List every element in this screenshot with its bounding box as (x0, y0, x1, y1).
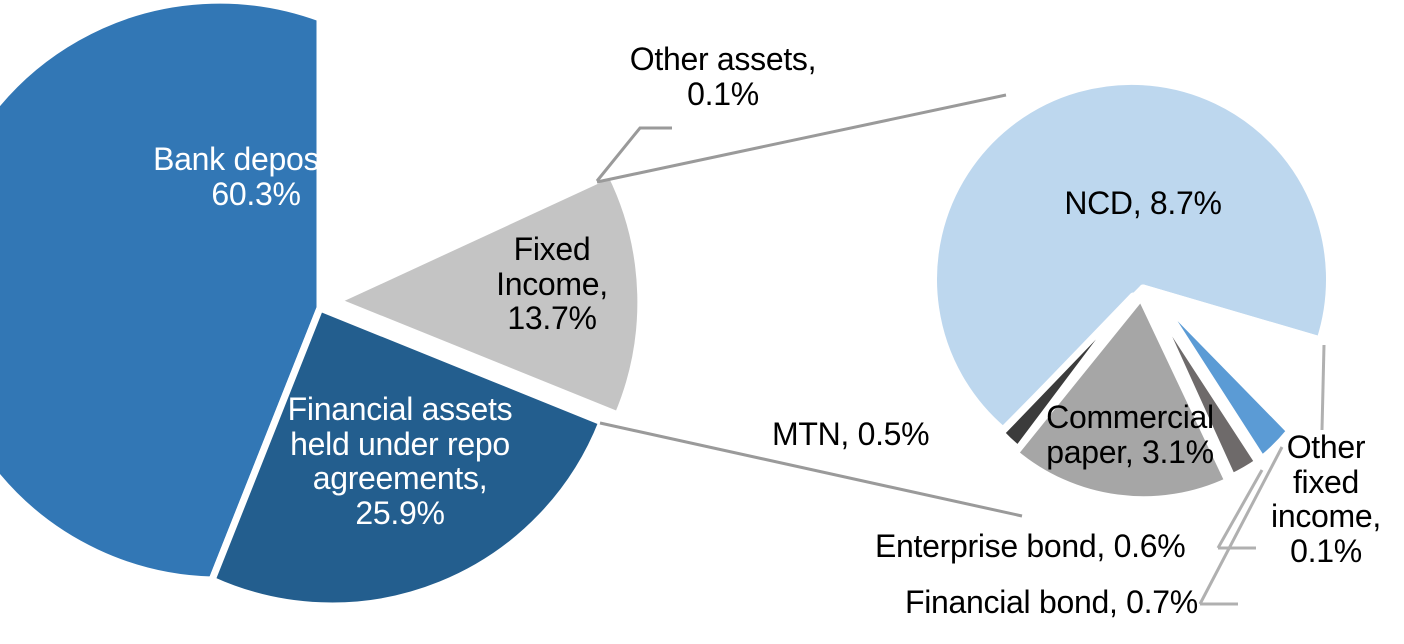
leader-other-fixed-income (1322, 345, 1324, 430)
label-ncd: NCD, 8.7% (1040, 186, 1246, 221)
label-enterprise-bond: Enterprise bond, 0.6% (875, 529, 1235, 564)
label-mtn: MTN, 0.5% (772, 417, 972, 452)
label-financial-bond: Financial bond, 0.7% (905, 585, 1245, 620)
pie-of-pie-chart: Bank deposits, 60.3% Financial assets he… (0, 0, 1404, 644)
label-bank-deposits: Bank deposits, 60.3% (122, 142, 390, 211)
label-fixed-income: Fixed Income, 13.7% (478, 232, 626, 336)
label-other-assets: Other assets, 0.1% (612, 42, 834, 111)
label-commercial-paper: Commercial paper, 3.1% (1026, 400, 1234, 469)
label-repo-agreements: Financial assets held under repo agreeme… (260, 392, 540, 530)
label-other-fixed-income: Other fixed income, 0.1% (1256, 430, 1396, 568)
